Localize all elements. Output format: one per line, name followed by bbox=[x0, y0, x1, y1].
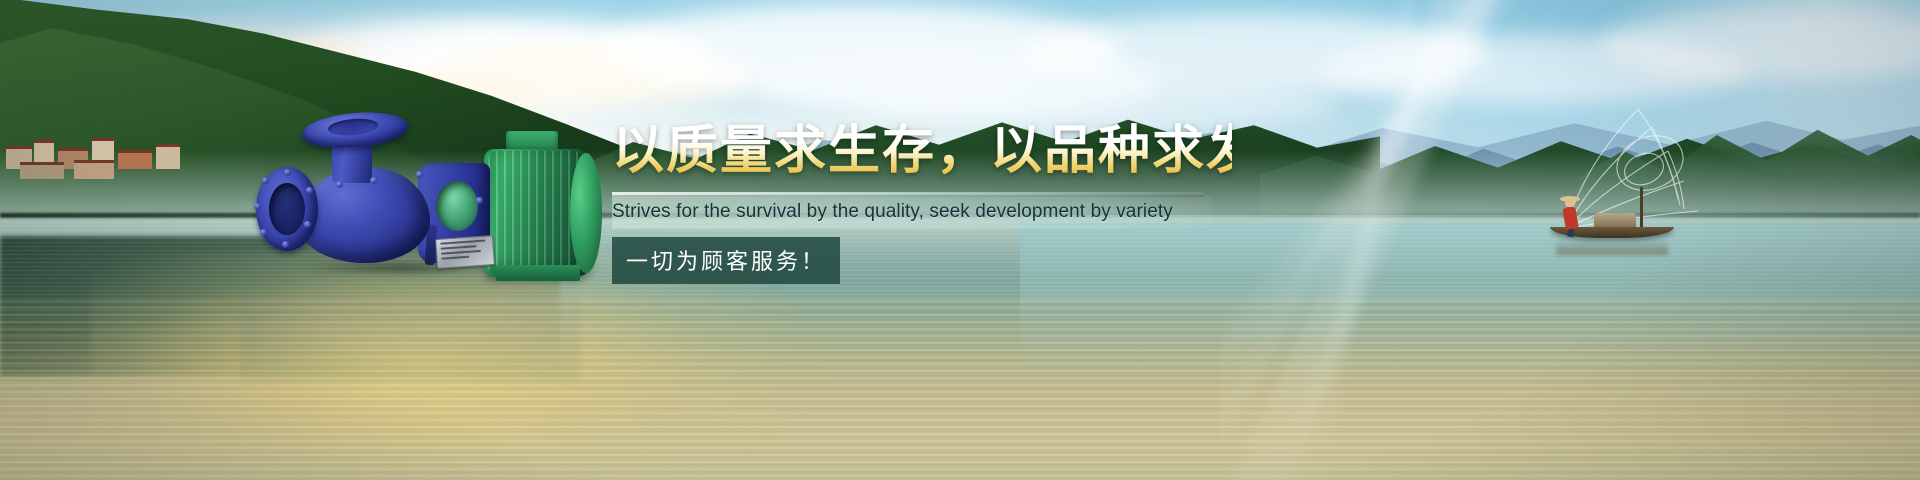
house bbox=[74, 160, 114, 179]
casing-bolt bbox=[476, 197, 483, 204]
flange-bolt bbox=[306, 187, 313, 194]
suction-bore bbox=[269, 183, 305, 235]
flange-bolt bbox=[262, 177, 269, 184]
banner-tagline: 一切为顾客服务！ bbox=[626, 244, 826, 276]
flange-bolt bbox=[284, 169, 291, 176]
casing-bolt bbox=[336, 181, 343, 188]
flange-bolt bbox=[282, 241, 289, 248]
lakeside-village bbox=[0, 128, 210, 190]
casing-bolt bbox=[370, 177, 377, 184]
subtitle-band: Strives for the survival by the quality,… bbox=[612, 195, 1212, 229]
pump-nameplate bbox=[435, 235, 495, 269]
boat-reflection bbox=[1556, 239, 1668, 255]
house bbox=[118, 150, 152, 169]
motor-base-foot bbox=[496, 265, 580, 281]
banner-subtitle: Strives for the survival by the quality,… bbox=[612, 201, 1173, 223]
banner-headline: 以质量求生存，以品种求发展 bbox=[612, 122, 1232, 180]
banner-text-block: 以质量求生存，以品种求发展 Strives for the survival b… bbox=[612, 122, 1232, 284]
house bbox=[20, 162, 64, 179]
centrifugal-pump bbox=[240, 105, 580, 280]
flange-bolt bbox=[260, 229, 267, 236]
flange-bolt bbox=[304, 221, 311, 228]
boat-mast bbox=[1640, 187, 1643, 229]
motor-end-cap bbox=[570, 153, 602, 273]
casing-bolt bbox=[416, 171, 423, 178]
fisherman-boat bbox=[1540, 185, 1700, 255]
hero-banner: 以质量求生存，以品种求发展 Strives for the survival b… bbox=[0, 0, 1920, 480]
flange-bolt bbox=[254, 203, 261, 210]
house bbox=[156, 144, 180, 169]
bracket-opening bbox=[436, 181, 478, 231]
pump-reflection bbox=[240, 272, 580, 382]
fisherman-hat bbox=[1560, 196, 1580, 202]
tagline-box: 一切为顾客服务！ bbox=[612, 237, 840, 284]
